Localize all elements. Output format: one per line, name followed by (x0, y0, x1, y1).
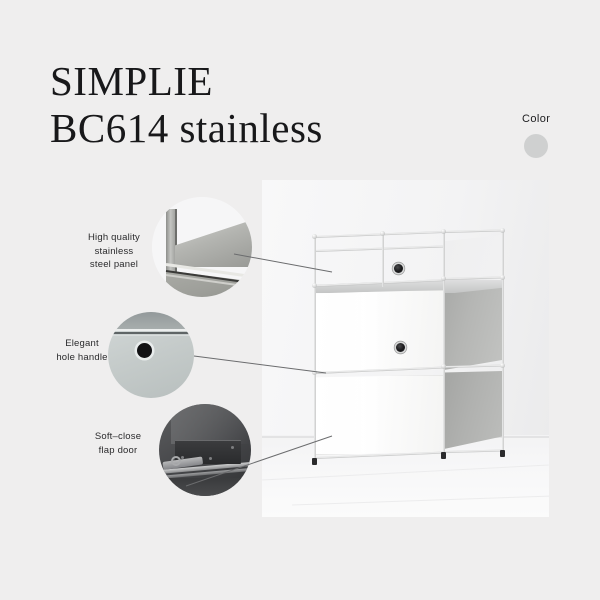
door-sheen (344, 376, 382, 454)
door-handle-lower[interactable] (396, 343, 405, 352)
frame-rail-middle-side (444, 365, 504, 368)
color-swatch[interactable] (524, 134, 548, 158)
cabinet-lower-side-panel (444, 371, 502, 449)
closeup-door-seam (108, 332, 194, 334)
cabinet-foot (500, 450, 505, 457)
closeup-hole-handle (137, 343, 152, 358)
closeup-door-seam (108, 335, 194, 336)
page-title-line-1: SIMPLIE (50, 58, 323, 104)
frame-rail-top-side (444, 229, 504, 233)
page-title-line-2: BC614 stainless (50, 104, 323, 152)
annotation-label-stainless-steel-panel: High quality stainless steel panel (55, 231, 173, 272)
product-photo[interactable] (262, 180, 549, 517)
frame-joint (441, 229, 446, 234)
door-handle-upper[interactable] (394, 264, 403, 273)
closeup-cabinet-wall (171, 404, 251, 444)
modular-cabinet (310, 227, 510, 470)
color-option-label: Color (522, 113, 585, 125)
page-title: SIMPLIE BC614 stainless (50, 58, 323, 152)
frame-joint (312, 283, 317, 288)
cabinet-foot (441, 452, 446, 459)
frame-joint (441, 364, 446, 369)
annotation-label-hole-handle: Elegant hole handle (28, 337, 136, 364)
frame-joint (500, 363, 505, 368)
cabinet-upper-side-panel (444, 287, 502, 370)
closeup-door-top-edge (108, 312, 194, 329)
annotation-label-soft-close-flap-door: Soft–close flap door (63, 430, 173, 457)
frame-joint (312, 370, 317, 375)
door-sheen (344, 291, 382, 373)
frame-joint (312, 234, 317, 239)
closeup-floor (159, 478, 251, 496)
color-option: Color (505, 113, 585, 158)
frame-rail-top-front (314, 231, 444, 238)
frame-post-top-divider (382, 233, 384, 287)
frame-post-front-left (314, 236, 316, 460)
product-showcase-page: SIMPLIE BC614 stainless Color (0, 0, 600, 600)
cabinet-flap-door-upper[interactable] (315, 290, 445, 374)
frame-joint (441, 276, 446, 281)
frame-rail-upper-mid (314, 245, 444, 252)
frame-post-back-right (502, 230, 504, 452)
closeup-hinge-ring (171, 456, 181, 466)
frame-rail-bottom-side (444, 450, 504, 453)
cabinet-flap-door-lower[interactable] (315, 375, 445, 455)
frame-joint (380, 231, 385, 236)
frame-joint (500, 275, 505, 280)
frame-post-front-right (443, 231, 445, 453)
closeup-screw (209, 457, 212, 460)
closeup-door-seam (108, 329, 194, 331)
closeup-screw (231, 446, 234, 449)
frame-joint (500, 228, 505, 233)
cabinet-foot (312, 458, 317, 465)
